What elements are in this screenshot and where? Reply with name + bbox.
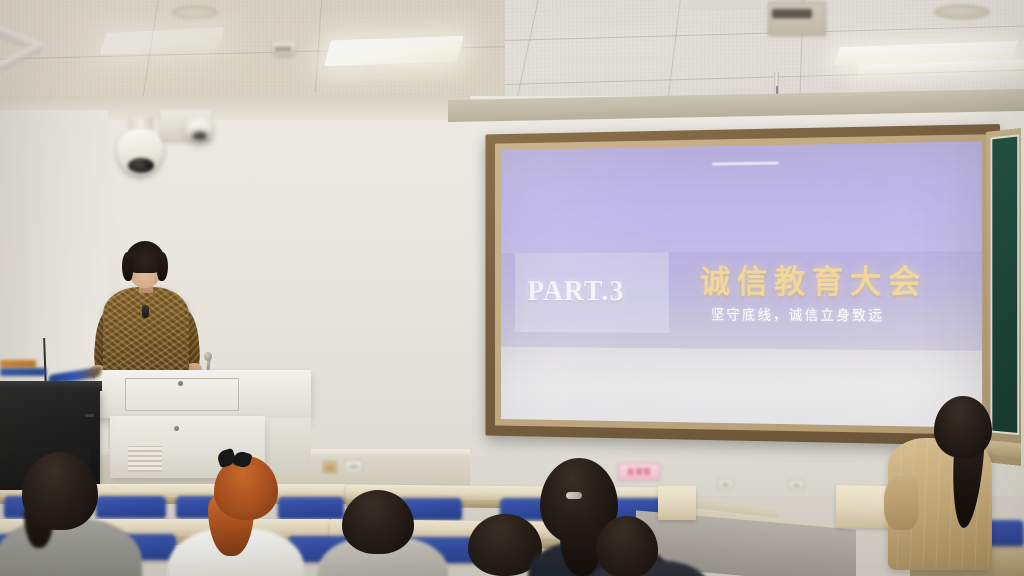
smoke-detector-icon [273, 42, 295, 55]
lecture-hall-photo: PART.3 诚信教育大会 坚守底线，诚信立身致远 [0, 0, 1024, 576]
hair-tie-icon [566, 492, 582, 499]
power-outlet-icon[interactable] [323, 461, 337, 473]
lectern-side [265, 418, 311, 474]
camera-lens-icon [192, 132, 207, 140]
presenter-torso [103, 287, 189, 379]
projection-screen-frame: PART.3 诚信教育大会 坚守底线，诚信立身致远 [485, 124, 1000, 446]
audience-arm [884, 476, 918, 530]
audience-head [934, 396, 992, 458]
audience-head [342, 490, 414, 554]
chalkboard-wrapper [986, 128, 1021, 466]
slide-content: PART.3 诚信教育大会 坚守底线，诚信立身致远 [501, 257, 982, 349]
lectern-lock-icon [178, 381, 183, 386]
chair[interactable] [278, 497, 344, 519]
power-outlet-icon[interactable] [789, 480, 804, 491]
projection-screen-surface[interactable]: PART.3 诚信教育大会 坚守底线，诚信立身致远 [501, 141, 982, 427]
slide-title: 诚信教育大会 [700, 255, 927, 303]
slide-subtitle: 坚守底线，诚信立身致远 [711, 304, 884, 325]
ac-vent-icon [768, 2, 826, 36]
cabinet-lock-icon [174, 426, 179, 431]
cabinet-vent-icon [128, 446, 162, 472]
wall-sign-text: 友谊馆 [627, 466, 651, 477]
audience-head [22, 452, 98, 530]
chair[interactable] [96, 496, 166, 518]
slide-part-label: PART.3 [527, 274, 624, 308]
desk-right-aisle-upper [658, 486, 696, 520]
ceiling-vent-icon [934, 5, 990, 19]
lectern [95, 370, 311, 418]
presenter-hair-left [122, 252, 133, 281]
ceiling-vent-icon [172, 6, 218, 19]
power-outlet-icon[interactable] [718, 479, 733, 490]
podium-microphone-icon [204, 352, 212, 361]
equipment-strip-blue [0, 368, 46, 376]
projection-screen-bezel: PART.3 诚信教育大会 坚守底线，诚信立身致远 [495, 134, 989, 435]
ceiling-panel-light [324, 36, 464, 67]
chalkboard [991, 134, 1020, 435]
presenter-hair-right [157, 252, 168, 281]
wall-sign: 友谊馆 [618, 463, 660, 480]
power-outlet-icon[interactable] [345, 460, 362, 473]
camera-lens-icon [128, 158, 154, 173]
ceiling-panel-light [666, 0, 762, 10]
equipment-strip-orange [0, 360, 36, 368]
lapel-microphone-icon [142, 305, 149, 318]
chalk-tray [986, 440, 1021, 458]
audience-head [596, 516, 658, 576]
